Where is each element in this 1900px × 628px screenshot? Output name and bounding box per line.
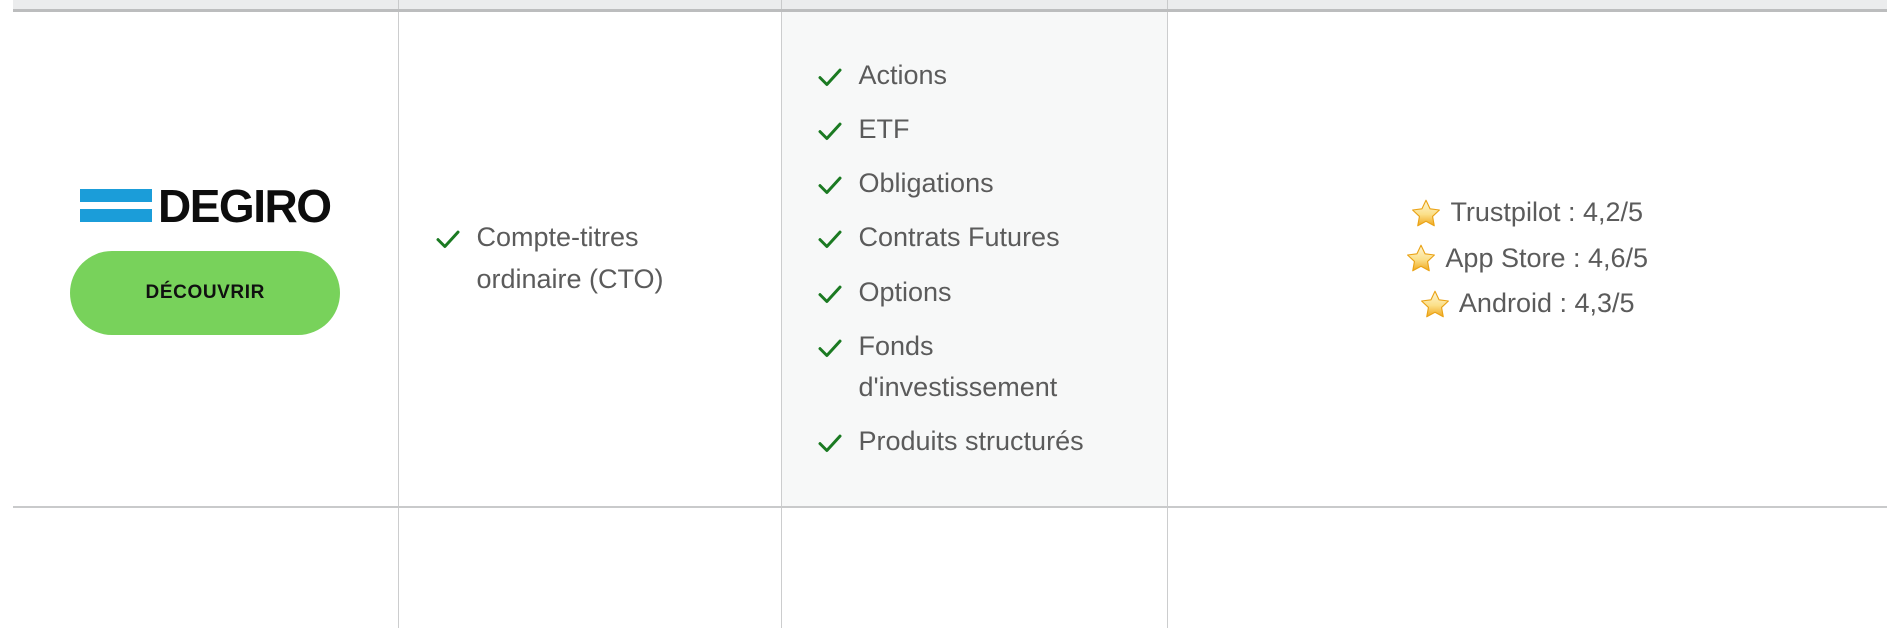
next-row-cell-products <box>781 507 1167 628</box>
list-item: Contrats Futures <box>815 217 1135 258</box>
list-item: Android : 4,3/5 <box>1420 281 1635 326</box>
product-label: Produits structurés <box>859 421 1084 462</box>
table-row-degiro: DEGIRO DÉCOUVRIR <box>13 10 1887 507</box>
discover-button[interactable]: DÉCOUVRIR <box>70 251 340 335</box>
account-type-label: Compte-titres ordinaire (CTO) <box>477 217 664 299</box>
account-type-list: Compte-titres ordinaire (CTO) <box>433 217 761 299</box>
ratings-cell: Trustpilot : 4,2/5 <box>1167 10 1887 507</box>
product-label: Obligations <box>859 163 994 204</box>
list-item: Compte-titres ordinaire (CTO) <box>433 217 713 299</box>
account-type-cell: Compte-titres ordinaire (CTO) <box>398 10 781 507</box>
degiro-logo: DEGIRO <box>80 183 330 229</box>
table-top-strip-row <box>13 0 1887 10</box>
broker-brand-cell: DEGIRO DÉCOUVRIR <box>13 10 398 507</box>
check-icon <box>815 62 845 92</box>
top-strip-cell-brand <box>13 0 398 10</box>
list-item: App Store : 4,6/5 <box>1406 236 1648 281</box>
star-icon <box>1420 289 1450 319</box>
degiro-bar-bottom <box>80 209 152 222</box>
ratings-list: Trustpilot : 4,2/5 <box>1406 190 1648 326</box>
product-label: Fonds d'investissement <box>859 326 1058 408</box>
next-row-cell-brand <box>13 507 398 628</box>
degiro-bar-top <box>80 189 152 202</box>
list-item: Actions <box>815 55 1135 96</box>
list-item: Obligations <box>815 163 1135 204</box>
product-label: Options <box>859 272 952 313</box>
rating-label: App Store : 4,6/5 <box>1445 236 1648 281</box>
list-item: ETF <box>815 109 1135 150</box>
list-item: Fonds d'investissement <box>815 326 1135 408</box>
list-item: Produits structurés <box>815 421 1135 462</box>
ratings-wrap: Trustpilot : 4,2/5 <box>1168 190 1888 326</box>
account-type-wrap: Compte-titres ordinaire (CTO) <box>399 217 781 299</box>
check-icon <box>815 224 845 254</box>
top-strip-cell-ratings <box>1167 0 1887 10</box>
top-strip-cell-account <box>398 0 781 10</box>
products-list: Actions ETF Obligations <box>815 55 1153 461</box>
degiro-wordmark: DEGIRO <box>158 183 330 229</box>
broker-comparison-table: DEGIRO DÉCOUVRIR <box>13 0 1887 628</box>
brand-cell-inner: DEGIRO DÉCOUVRIR <box>13 183 398 335</box>
star-icon <box>1411 198 1441 228</box>
check-icon <box>815 170 845 200</box>
rating-label: Android : 4,3/5 <box>1459 281 1635 326</box>
check-icon <box>433 224 463 254</box>
star-icon <box>1406 243 1436 273</box>
list-item: Options <box>815 272 1135 313</box>
products-wrap: Actions ETF Obligations <box>782 55 1167 461</box>
degiro-bars-icon <box>80 189 152 222</box>
product-label: Actions <box>859 55 948 96</box>
check-icon <box>815 116 845 146</box>
list-item: Trustpilot : 4,2/5 <box>1411 190 1643 235</box>
product-label: ETF <box>859 109 910 150</box>
comparison-table-screen: DEGIRO DÉCOUVRIR <box>0 0 1900 626</box>
next-row-cell-account <box>398 507 781 628</box>
table-next-row-partial <box>13 507 1887 628</box>
rating-label: Trustpilot : 4,2/5 <box>1450 190 1643 235</box>
available-products-cell: Actions ETF Obligations <box>781 10 1167 507</box>
next-row-cell-ratings <box>1167 507 1887 628</box>
product-label: Contrats Futures <box>859 217 1060 258</box>
check-icon <box>815 333 845 363</box>
check-icon <box>815 428 845 458</box>
check-icon <box>815 279 845 309</box>
top-strip-cell-products <box>781 0 1167 10</box>
